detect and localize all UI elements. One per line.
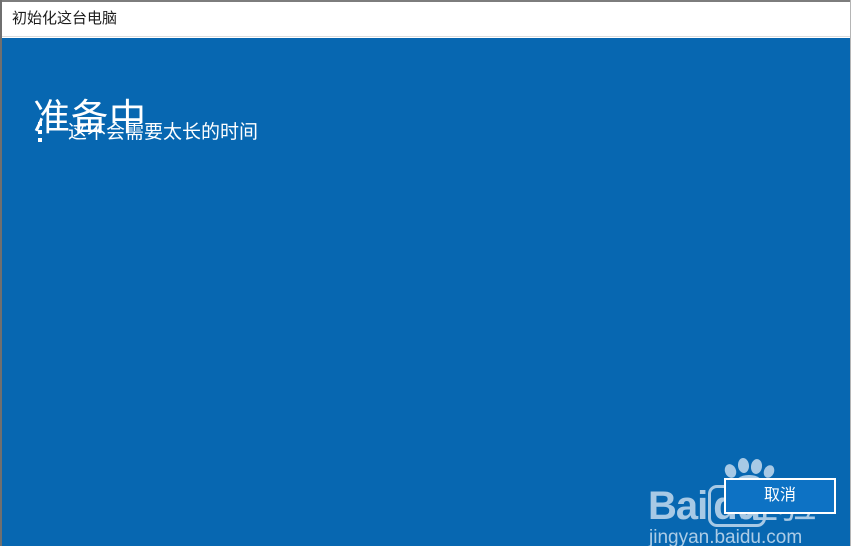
loading-dots-icon <box>38 122 46 144</box>
watermark-logo-bai: Bai <box>648 484 707 528</box>
watermark-url: jingyan.baidu.com <box>649 526 802 546</box>
oobe-reset-screen: 初始化这台电脑 准备中 这不会需要太长的时间 Baidu 经验 <box>0 0 851 546</box>
main-content: 准备中 这不会需要太长的时间 Baidu 经验 jingyan.baidu.co… <box>2 38 850 546</box>
status-message: 这不会需要太长的时间 <box>68 120 258 145</box>
window-title: 初始化这台电脑 <box>12 9 117 28</box>
cancel-button[interactable]: 取消 <box>724 478 836 514</box>
window-titlebar: 初始化这台电脑 <box>2 2 850 37</box>
